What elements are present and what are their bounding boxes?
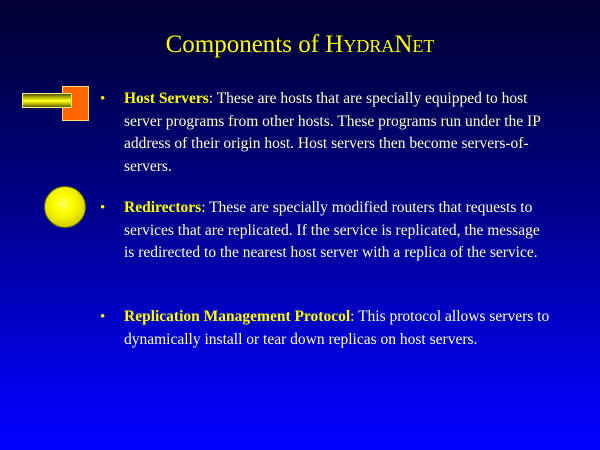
bullet-lead-in: Redirectors (124, 199, 201, 216)
bullet-marker-icon: • (98, 306, 124, 328)
bullet-lead-in: Host Servers (124, 90, 209, 107)
bullet-body: Redirectors: These are specially modifie… (124, 197, 553, 265)
bullet-separator: : (209, 90, 217, 107)
slide-canvas: Components of HydraNet • Host Servers: T… (0, 0, 600, 450)
yellow-bar-icon (22, 93, 72, 108)
page-title-prefix: Components of (166, 31, 326, 58)
page-title-smallcaps: HydraNet (325, 31, 434, 58)
host-server-graphic (0, 80, 98, 132)
bullet-separator: : (201, 199, 209, 216)
yellow-sphere-icon (44, 186, 86, 228)
bullet-marker-icon: • (98, 88, 124, 110)
bullet-body: Replication Management Protocol: This pr… (124, 306, 553, 351)
bullet-lead-in: Replication Management Protocol (124, 308, 350, 325)
bullet-body: Host Servers: These are hosts that are s… (124, 88, 553, 178)
page-title: Components of HydraNet (0, 30, 600, 60)
bullet-item-host-servers: • Host Servers: These are hosts that are… (98, 88, 553, 178)
bullet-item-replication-management-protocol: • Replication Management Protocol: This … (98, 306, 553, 351)
bullet-marker-icon: • (98, 197, 124, 219)
bullet-item-redirectors: • Redirectors: These are specially modif… (98, 197, 553, 265)
bullet-separator: : (350, 308, 358, 325)
